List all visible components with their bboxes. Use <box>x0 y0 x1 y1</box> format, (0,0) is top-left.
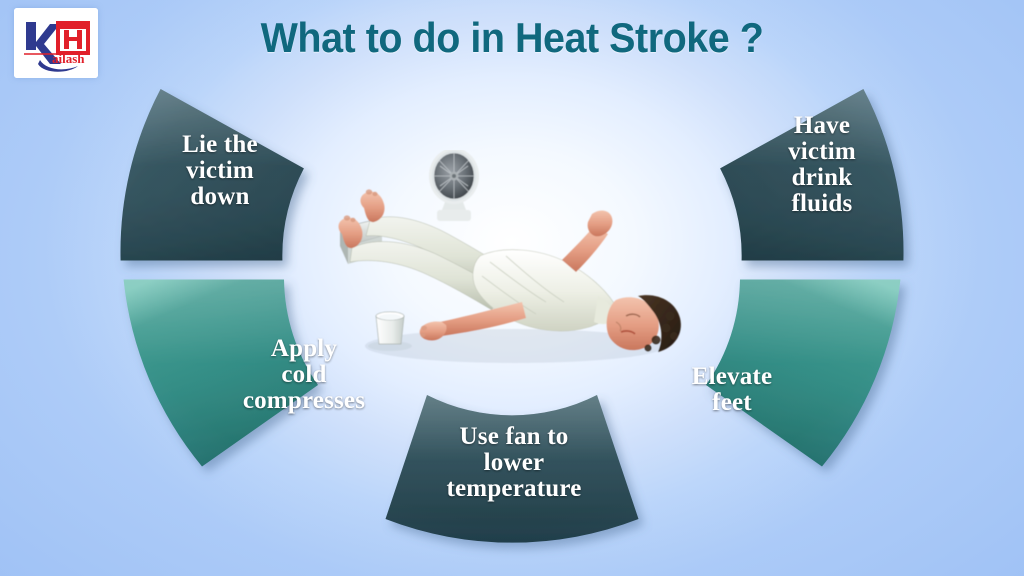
process-wheel <box>0 0 1024 576</box>
infographic-canvas: ailash What to do in Heat Stroke ? <box>0 0 1024 576</box>
page-title: What to do in Heat Stroke ? <box>31 14 994 62</box>
segment-have-victim-drink-fluids[interactable] <box>720 89 903 261</box>
kailash-logo-icon: ailash <box>14 8 98 78</box>
segment-lie-the-victim-down[interactable] <box>120 89 303 261</box>
kailash-logo: ailash <box>14 8 98 78</box>
segment-use-fan-to-lower-temperature[interactable] <box>216 392 808 576</box>
